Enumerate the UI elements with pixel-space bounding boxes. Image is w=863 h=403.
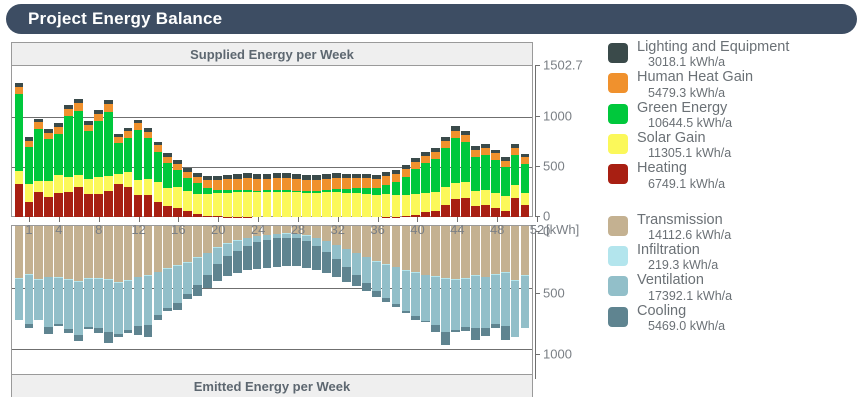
legend-text: Lighting and Equipment3018.1 kWh/a [637,40,789,69]
bar-segment [154,315,163,320]
bar-segment [481,226,490,277]
x-axis-tick-label: 36 [370,222,384,237]
bar-segment [74,335,83,342]
bar-segment [431,277,440,325]
bar-segment [223,217,232,218]
bar-segment [243,238,252,246]
bar-segment [431,226,440,276]
bar-segment [124,281,133,330]
legend-item-label: Transmission [637,213,731,228]
legend-item-value: 14112.6 kWh/a [637,229,731,242]
bar-column [193,173,202,217]
bar-column [362,174,371,217]
bar-segment [173,187,182,208]
bar-segment [382,185,391,195]
y-axis-tick [535,354,540,355]
bar-column [521,226,530,328]
legend-item-value: 219.3 kWh/a [637,259,718,272]
bar-segment [471,328,480,340]
bar-segment [511,226,520,280]
bar-segment [163,269,172,308]
bar-segment [25,184,34,202]
legend-swatch-icon [608,307,628,327]
bar-segment [64,280,73,329]
bar-column [213,176,222,217]
bar-segment [501,211,510,217]
bar-segment [441,148,450,187]
bar-segment [25,324,34,328]
bar-segment [104,104,113,111]
bar-segment [332,192,341,217]
bar-segment [104,112,113,176]
bar-segment [154,152,163,182]
bar-segment [44,327,53,334]
bar-column [322,174,331,217]
bar-segment [392,267,401,304]
bar-segment [282,238,291,266]
bar-segment [114,143,123,174]
bar-segment [154,272,163,315]
bar-segment [74,111,83,175]
bar-column [44,129,53,217]
bar-column [124,226,133,333]
bar-column [481,226,490,336]
bar-segment [243,192,252,217]
supplied-energy-panel: Supplied Energy per Week [11,42,533,217]
bar-segment [54,193,63,217]
bar-segment [163,308,172,310]
bar-column [144,128,153,217]
bar-segment [392,174,401,182]
bar-segment [163,188,172,206]
bar-column [25,226,34,328]
bar-segment [84,179,93,194]
bar-segment [64,226,73,279]
bar-column [263,174,272,217]
bar-segment [44,226,53,277]
page-title: Project Energy Balance [6,9,222,29]
bar-segment [491,208,500,217]
bar-segment [441,141,450,148]
bar-column [461,131,470,217]
legend-swatch-icon [608,73,628,93]
bar-column [104,100,113,217]
bar-segment [521,276,530,328]
bar-segment [213,193,222,216]
bar-segment [74,175,83,187]
bar-segment [124,330,133,333]
bar-segment [421,321,430,322]
bar-segment [451,280,460,331]
bar-segment [233,241,242,251]
bar-segment [144,179,153,196]
bar-segment [173,266,182,303]
bar-segment [134,277,143,326]
legend-swatch-icon [608,104,628,124]
bar-segment [213,248,222,264]
bar-segment [114,184,123,217]
bar-segment [173,303,182,310]
bar-segment [501,273,510,326]
legend-item: Human Heat Gain5479.3 kWh/a [608,70,858,99]
bar-segment [441,205,450,217]
bar-column [54,123,63,217]
bar-segment [124,172,133,187]
bar-segment [273,192,282,217]
legend-item-value: 5469.0 kWh/a [637,320,725,333]
bar-column [233,226,242,273]
bar-segment [25,147,34,184]
bar-column [54,226,63,326]
bar-segment [332,259,341,278]
legend-item-label: Lighting and Equipment [637,40,789,55]
bar-segment [362,178,371,188]
emitted-plot-area [12,226,532,374]
bar-segment [223,244,232,256]
x-axis-tick-label: 52 [530,222,544,237]
bar-segment [64,177,73,192]
bar-segment [114,226,123,282]
legend-text: Transmission14112.6 kWh/a [637,213,731,242]
bar-column [451,226,460,332]
bar-segment [481,148,490,155]
bar-segment [411,194,420,214]
bar-column [402,226,411,313]
bar-segment [312,193,321,217]
bar-segment [15,184,24,217]
supplied-plot-area [12,66,532,217]
bar-segment [233,251,242,273]
bar-column [183,226,192,299]
bar-segment [501,161,510,168]
bar-segment [25,275,34,324]
bar-segment [362,226,371,257]
bar-segment [421,193,430,212]
bar-segment [84,327,93,329]
bar-column [382,172,391,217]
legend-item-label: Heating [637,161,725,176]
bar-column [312,175,321,217]
bar-segment [34,226,43,279]
bar-segment [144,195,153,217]
bar-segment [421,212,430,217]
bar-segment [114,334,123,337]
bar-column [511,226,520,337]
bar-segment [372,262,381,291]
bar-column [183,168,192,217]
bar-segment [154,226,163,272]
bar-segment [431,325,440,332]
bar-segment [501,196,510,211]
bar-column [163,226,172,311]
bar-segment [441,226,450,278]
bar-column [114,226,123,337]
bar-segment [94,194,103,217]
supplied-bars [14,66,530,217]
bar-segment [491,160,500,193]
bar-segment [302,180,311,192]
bar-segment [144,138,153,179]
bar-segment [163,206,172,217]
bar-segment [382,265,391,298]
emitted-energy-panel: Emitted Energy per Week [11,225,533,397]
bar-segment [451,131,460,138]
bar-segment [441,279,450,332]
bar-segment [94,177,103,194]
bar-column [491,150,500,217]
legend-item: Heating6749.1 kWh/a [608,161,858,190]
bar-segment [402,216,411,217]
bar-segment [342,178,351,189]
bar-column [451,126,460,217]
bar-segment [74,282,83,335]
bar-segment [84,131,93,179]
bar-segment [44,139,53,181]
bar-segment [25,202,34,217]
bar-segment [34,129,43,181]
bar-segment [124,138,133,172]
bar-segment [431,211,440,217]
x-axis-tick-label: 48 [490,222,504,237]
bar-segment [94,279,103,328]
legend-item-value: 5479.3 kWh/a [637,87,753,100]
bar-segment [54,134,63,176]
legend-item: Ventilation17392.1 kWh/a [608,273,858,302]
bar-segment [302,241,311,268]
bar-segment [411,162,420,169]
bar-column [84,226,93,329]
project-energy-balance-window: Project Energy Balance Supplied Energy p… [0,0,863,403]
bar-segment [352,275,361,287]
bar-segment [94,121,103,177]
bar-column [402,165,411,217]
bar-segment [74,226,83,281]
bar-segment [34,181,43,192]
bar-column [411,158,420,217]
bar-column [382,226,391,302]
bar-column [64,226,73,333]
bar-segment [322,179,331,190]
bar-segment [84,226,93,278]
bar-segment [203,216,212,218]
bar-segment [64,109,73,116]
bar-segment [94,328,103,333]
bar-segment [114,283,123,334]
bar-column [342,174,351,217]
legend-item: Transmission14112.6 kWh/a [608,213,858,242]
bar-segment [74,187,83,217]
bar-segment [173,208,182,217]
bar-segment [213,264,222,281]
bar-column [84,121,93,217]
bar-column [94,226,103,333]
x-axis-unit-label: [kWh] [546,222,579,237]
bar-segment [471,276,480,328]
bar-segment [352,253,361,275]
legend-item: Solar Gain11305.1 kWh/a [608,131,858,160]
legend-supplied-group: Lighting and Equipment3018.1 kWh/aHuman … [608,40,858,191]
bar-segment [173,170,182,187]
bar-column [431,148,440,217]
bar-segment [471,150,480,157]
bar-segment [64,116,73,177]
bar-segment [144,276,153,325]
bar-segment [193,285,202,297]
bar-segment [392,217,401,218]
bar-segment [352,193,361,217]
bar-segment [233,226,242,240]
y-axis-tick [535,65,540,66]
bar-segment [292,192,301,217]
bar-segment [193,226,202,257]
bar-segment [282,178,291,190]
bar-segment [124,187,133,217]
bar-column [223,175,232,217]
bar-segment [144,325,153,337]
bar-segment [134,326,143,335]
bar-segment [104,332,113,343]
bar-segment [64,192,73,217]
bar-segment [292,238,301,266]
bar-column [511,144,520,217]
legend-emitted-group: Transmission14112.6 kWh/aInfiltration219… [608,213,858,333]
bar-segment [342,193,351,217]
bar-segment [362,194,371,217]
bar-segment [392,195,401,217]
bar-segment [521,205,530,217]
y-axis-tick-label: 1000 [543,108,572,123]
legend-item-label: Ventilation [637,273,732,288]
bar-column [421,226,430,322]
legend-item-label: Green Energy [637,101,732,116]
bar-segment [511,185,520,198]
bar-segment [342,267,351,282]
bar-segment [501,326,510,340]
bar-column [441,137,450,217]
bar-segment [461,279,470,327]
y-axis-tick-label: 1502.7 [543,58,583,73]
legend-item: Infiltration219.3 kWh/a [608,243,858,272]
bar-segment [34,192,43,217]
bar-segment [451,199,460,217]
bar-segment [15,87,24,95]
bar-column [302,175,311,217]
bar-segment [292,179,301,191]
legend-item-value: 6749.1 kWh/a [637,178,725,191]
bar-segment [481,277,490,328]
bar-segment [451,330,460,332]
bar-segment [461,142,470,182]
y-axis-line [535,65,536,216]
bar-column [352,226,361,286]
bar-segment [183,211,192,217]
bar-column [203,176,212,217]
bar-segment [223,193,232,217]
legend-item-value: 3018.1 kWh/a [637,56,789,69]
legend-item: Cooling5469.0 kWh/a [608,304,858,333]
bar-column [411,226,420,320]
bar-segment [322,252,331,274]
bar-segment [471,226,480,275]
bar-segment [263,179,272,191]
bar-column [471,226,480,340]
bar-segment [104,191,113,217]
y-axis-tick-label: 500 [543,158,565,173]
legend-swatch-icon [608,216,628,236]
legend-item-label: Human Heat Gain [637,70,753,85]
bar-segment [491,324,500,329]
bar-segment [223,256,232,276]
bar-segment [461,327,470,331]
bar-segment [521,164,530,193]
emitted-chart-title: Emitted Energy per Week [12,374,532,397]
bar-column [124,128,133,217]
bar-column [104,226,113,343]
bar-segment [392,226,401,267]
bar-segment [441,332,450,345]
bar-segment [402,226,411,270]
bar-segment [263,192,272,217]
bar-column [64,105,73,217]
bar-column [273,226,282,267]
bar-segment [491,153,500,160]
bar-segment [382,298,391,302]
bar-column [173,226,182,310]
x-axis-tick-label: 32 [331,222,345,237]
bar-segment [402,169,411,177]
bar-segment [134,123,143,130]
bar-segment [64,329,73,333]
bar-segment [15,226,24,278]
x-axis-tick-label: 8 [95,222,102,237]
bar-segment [104,176,113,191]
bar-segment [392,182,401,195]
bar-segment [451,183,460,200]
bar-column [421,152,430,217]
legend-swatch-icon [608,246,628,266]
bar-segment [44,277,53,326]
bar-segment [233,192,242,217]
legend-swatch-icon [608,134,628,154]
bar-segment [154,202,163,217]
bar-column [154,226,163,320]
bar-segment [312,180,321,191]
bar-column [431,226,440,332]
bar-segment [193,214,202,217]
bar-segment [372,195,381,217]
bar-segment [203,180,212,188]
bar-segment [193,194,202,214]
bar-segment [104,280,113,332]
bar-segment [481,328,490,337]
legend-swatch-icon [608,276,628,296]
x-axis-tick-label: 40 [410,222,424,237]
bar-segment [372,179,381,188]
bar-segment [481,205,490,217]
bar-segment [203,275,212,289]
bar-column [233,174,242,217]
bar-segment [511,155,520,185]
bar-segment [183,191,192,211]
bar-column [471,146,480,217]
bar-segment [421,163,430,193]
legend-text: Solar Gain11305.1 kWh/a [637,131,731,160]
bar-segment [372,188,381,196]
bar-segment [421,275,430,321]
legend-item: Lighting and Equipment3018.1 kWh/a [608,40,858,69]
bar-segment [15,279,24,321]
bar-segment [34,280,43,321]
